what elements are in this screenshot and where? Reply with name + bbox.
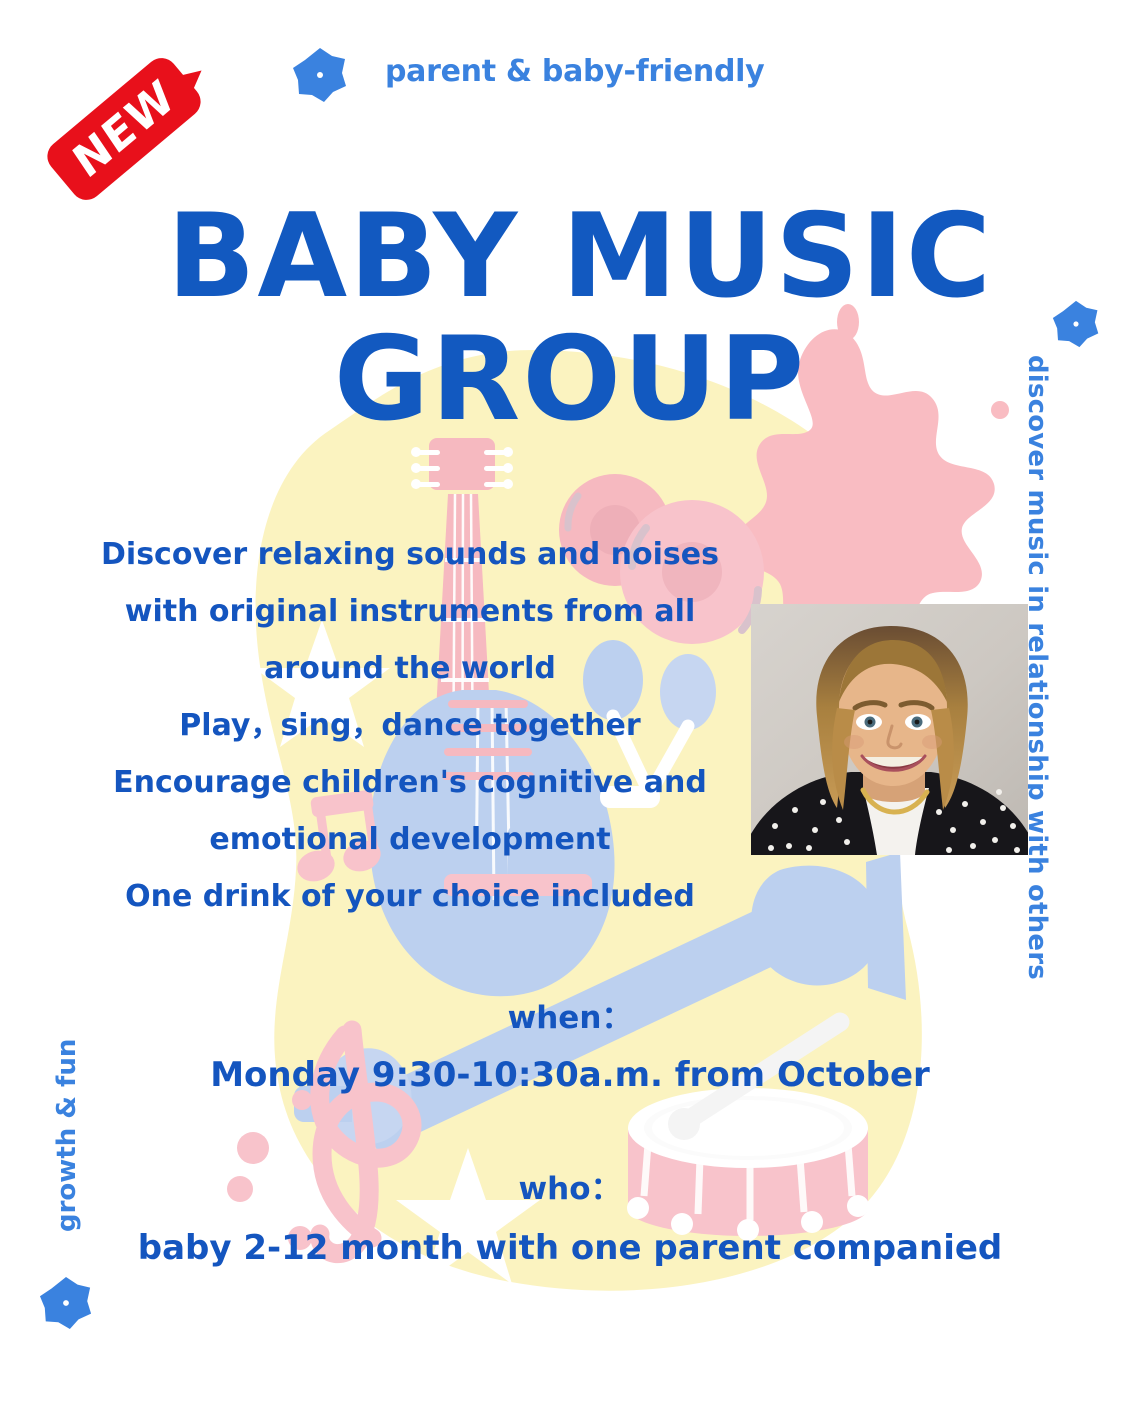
title-line-1: BABY MUSIC xyxy=(0,196,1140,319)
body-line: Discover relaxing sounds and noises xyxy=(60,526,760,583)
portrait-illustration xyxy=(751,604,1028,855)
new-badge-label: NEW xyxy=(44,49,205,209)
tagline: parent & baby-friendly xyxy=(385,54,764,89)
who-value: baby 2-12 month with one parent companie… xyxy=(0,1228,1140,1268)
new-badge: NEW xyxy=(41,52,207,207)
who-label: who： xyxy=(0,1163,1140,1208)
body-copy: Discover relaxing sounds and noises with… xyxy=(60,526,760,925)
body-line: One drink of your choice included xyxy=(60,868,760,925)
when-value: Monday 9:30-10:30a.m. from October xyxy=(0,1055,1140,1095)
page-title: BABY MUSIC GROUP xyxy=(0,196,1140,442)
body-line: around the world xyxy=(60,640,760,697)
flower-icon-bottom-left xyxy=(39,1275,93,1331)
body-line: emotional development xyxy=(60,811,760,868)
title-line-2: GROUP xyxy=(0,319,1140,442)
body-line: Encourage children's cognitive and xyxy=(60,754,760,811)
poster-root: NEW parent & baby-friendly BABY MUSIC GR… xyxy=(0,0,1140,1426)
body-line: with original instruments from all xyxy=(60,583,760,640)
body-line: Play，sing，dance together xyxy=(60,697,760,754)
when-label: when： xyxy=(0,992,1140,1037)
instructor-photo xyxy=(751,604,1028,855)
flower-icon-top xyxy=(292,46,348,104)
